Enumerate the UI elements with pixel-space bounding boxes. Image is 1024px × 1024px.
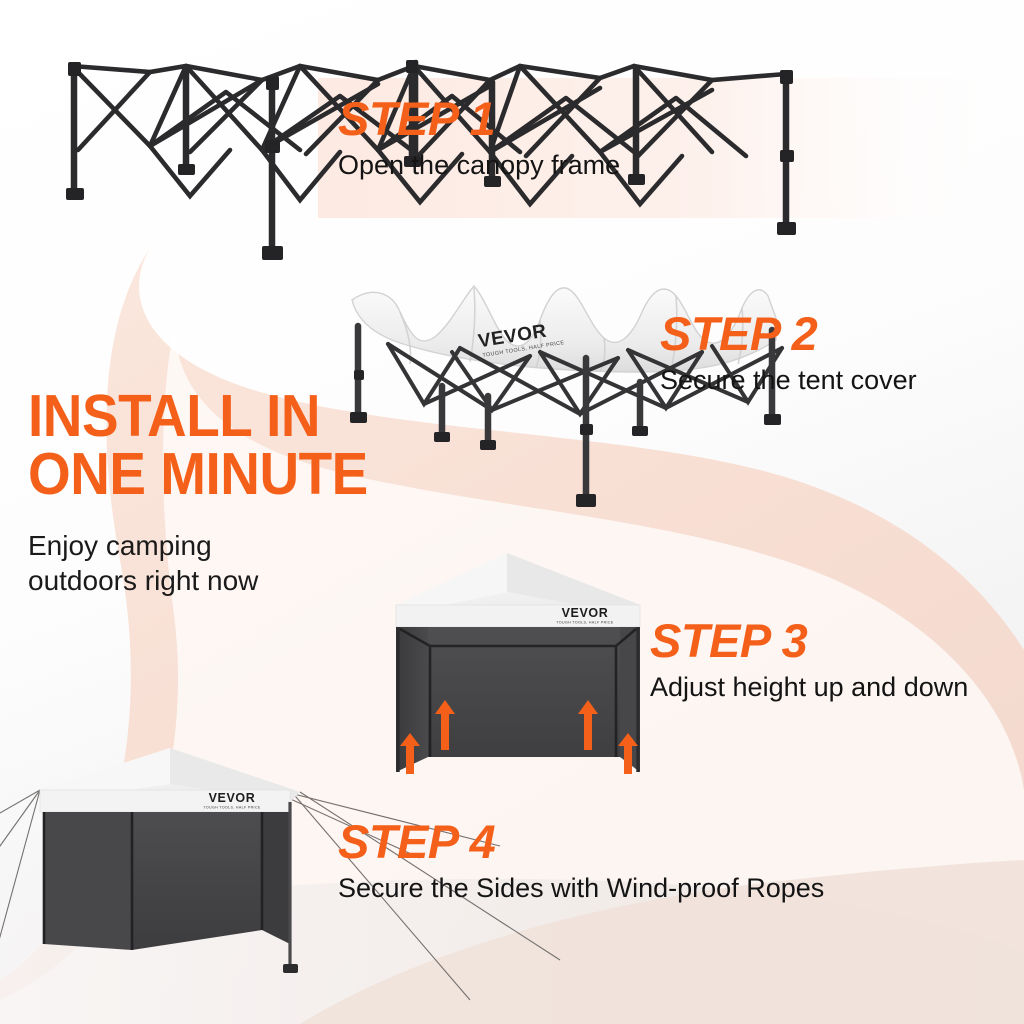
infographic-canvas: VEVOR TOUGH TOOLS, HALF PRICE: [0, 0, 1024, 1024]
svg-text:VEVOR: VEVOR: [209, 791, 256, 805]
step-4-kicker: STEP 4: [338, 818, 824, 865]
step-2-description: Secure the tent cover: [660, 365, 917, 396]
step-4-description: Secure the Sides with Wind-proof Ropes: [338, 873, 824, 904]
step-1-description: Open the canopy frame: [338, 150, 620, 181]
step-4-text: STEP 4 Secure the Sides with Wind-proof …: [338, 818, 824, 904]
step-2-kicker: STEP 2: [660, 310, 917, 357]
step-3-kicker: STEP 3: [650, 617, 968, 664]
step-1-kicker: STEP 1: [338, 95, 620, 142]
headline-block: INSTALL IN ONE MINUTE Enjoy camping outd…: [28, 388, 393, 599]
step-3-text: STEP 3 Adjust height up and down: [650, 617, 968, 703]
svg-text:TOUGH TOOLS, HALF PRICE: TOUGH TOOLS, HALF PRICE: [203, 806, 260, 810]
headline-subtitle: Enjoy camping outdoors right now: [28, 528, 393, 600]
subtitle-line1: Enjoy camping: [28, 528, 393, 564]
headline-line1: INSTALL IN: [28, 388, 368, 446]
step-2-text: STEP 2 Secure the tent cover: [660, 310, 917, 396]
headline-line2: ONE MINUTE: [28, 446, 368, 504]
subtitle-line2: outdoors right now: [28, 563, 393, 599]
step-1-text: STEP 1 Open the canopy frame: [338, 95, 620, 181]
step-3-description: Adjust height up and down: [650, 672, 968, 703]
